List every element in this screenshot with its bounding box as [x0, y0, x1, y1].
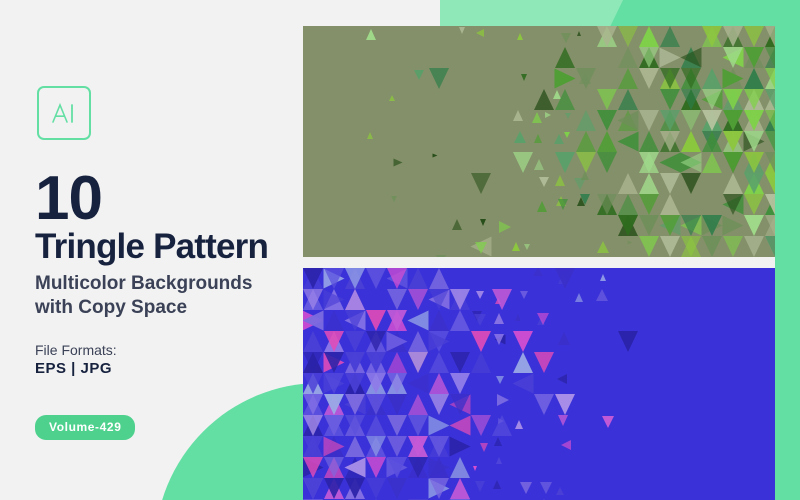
pattern-triangle: [391, 196, 397, 202]
pattern-triangle: [366, 457, 386, 478]
pattern-triangle: [408, 415, 428, 436]
pattern-triangle: [324, 373, 344, 394]
pattern-triangle: [580, 194, 590, 205]
pattern-triangle: [366, 415, 386, 436]
pattern-triangle: [555, 69, 576, 89]
pattern-triangle: [303, 268, 323, 289]
pattern-triangle: [459, 27, 465, 34]
pattern-triangle: [556, 487, 564, 495]
pattern-triangle: [366, 268, 386, 289]
pattern-triangle: [537, 201, 547, 212]
pattern-triangle: [744, 236, 764, 257]
pattern-triangle: [558, 415, 568, 426]
pattern-triangle: [389, 95, 395, 101]
pattern-triangle: [324, 290, 345, 310]
pattern-triangle: [324, 478, 344, 499]
pattern-triangle: [744, 173, 764, 194]
pattern-triangle: [639, 236, 659, 257]
pattern-triangle: [660, 89, 680, 110]
pattern-triangle: [723, 173, 743, 194]
pattern-triangle: [450, 310, 470, 331]
pattern-triangle: [303, 311, 324, 331]
pattern-triangle: [702, 215, 722, 236]
pattern-triangle: [513, 352, 533, 373]
pattern-triangle: [765, 68, 775, 89]
pattern-triangle: [324, 331, 344, 352]
pattern-triangle: [555, 268, 575, 289]
pattern-triangle: [515, 314, 521, 321]
pattern-triangle: [345, 478, 365, 499]
pattern-triangle: [576, 110, 596, 131]
pattern-triangle: [513, 331, 533, 352]
pattern-triangle: [429, 436, 449, 457]
pattern-triangle: [513, 152, 533, 173]
pattern-triangle: [450, 352, 470, 373]
pattern-triangle: [639, 173, 659, 194]
pattern-triangle: [723, 69, 744, 89]
pattern-triangle: [681, 236, 701, 257]
pattern-triangle: [618, 111, 639, 131]
page-title: Tringle Pattern: [35, 228, 268, 266]
pattern-triangle: [450, 416, 471, 436]
pattern-triangle: [474, 314, 486, 326]
pattern-triangle: [555, 89, 575, 110]
pattern-triangle: [765, 215, 775, 236]
pattern-triangle: [408, 374, 429, 394]
pattern-triangle: [660, 48, 681, 68]
pattern-triangle: [473, 466, 477, 471]
pattern-triangle: [702, 131, 722, 152]
pattern-triangle: [765, 236, 775, 257]
pattern-triangle: [555, 152, 575, 173]
pattern-triangle: [681, 89, 701, 110]
pattern-triangle: [471, 173, 491, 194]
pattern-triangle: [394, 159, 403, 167]
pattern-triangle: [532, 112, 542, 123]
pattern-triangle: [408, 268, 428, 289]
pattern-triangle: [345, 373, 365, 394]
pattern-triangle: [408, 457, 428, 478]
pattern-triangle: [565, 113, 571, 119]
pattern-triangle: [765, 110, 775, 131]
pattern-triangle: [450, 478, 470, 499]
volume-badge: Volume-429: [35, 415, 135, 440]
pattern-triangle: [660, 26, 680, 47]
pattern-triangle: [387, 436, 407, 457]
pattern-triangle: [366, 352, 386, 373]
pattern-triangle: [429, 352, 449, 373]
pattern-triangle: [492, 289, 512, 310]
pattern-triangle: [534, 134, 542, 143]
pattern-triangle: [303, 436, 323, 457]
pattern-triangle: [660, 68, 680, 89]
pattern-triangle: [345, 352, 365, 373]
pattern-triangle: [575, 293, 583, 302]
pattern-triangle: [436, 255, 446, 257]
pattern-triangle: [534, 159, 544, 170]
pattern-triangle: [520, 291, 528, 299]
poster-canvas: 10 Tringle Pattern Multicolor Background…: [0, 0, 800, 500]
page-subtitle: Multicolor Backgrounds with Copy Space: [35, 272, 252, 320]
pattern-triangle: [555, 47, 575, 68]
pattern-triangle: [618, 173, 638, 194]
pattern-triangle: [744, 215, 764, 236]
pattern-triangle: [499, 221, 511, 233]
pattern-triangle: [303, 331, 323, 352]
pattern-triangle: [618, 132, 639, 152]
pattern-triangle: [600, 274, 606, 281]
pattern-triangle: [521, 74, 527, 81]
pattern-triangle: [429, 478, 449, 499]
pattern-triangle: [366, 436, 386, 457]
pattern-triangle: [723, 194, 743, 215]
pattern-triangle: [618, 215, 638, 236]
pattern-triangle: [475, 481, 485, 492]
pattern-triangle: [639, 152, 659, 173]
pattern-triangle: [639, 47, 659, 68]
pattern-triangle: [408, 352, 428, 373]
pattern-triangle: [639, 68, 659, 89]
decorative-green-shape-right-strip: [775, 0, 800, 500]
pattern-triangle: [660, 153, 681, 173]
pattern-triangle: [475, 242, 487, 254]
pattern-triangle: [639, 194, 659, 215]
pattern-triangle: [324, 457, 344, 478]
pattern-triangle: [303, 373, 323, 394]
pattern-triangle: [345, 331, 365, 352]
pattern-triangle: [539, 177, 549, 187]
pattern-triangle: [660, 194, 680, 215]
pattern-triangle: [517, 33, 523, 40]
pattern-triangle: [765, 89, 775, 110]
pattern-triangle: [639, 110, 659, 131]
pattern-triangle: [429, 373, 449, 394]
pack-count: 10: [35, 168, 102, 230]
pattern-triangle: [618, 26, 638, 47]
pattern-triangle: [639, 26, 659, 47]
file-formats-value: EPS | JPG: [35, 360, 112, 377]
pattern-triangle: [681, 131, 701, 152]
pattern-triangle: [723, 216, 744, 236]
pattern-triangle: [744, 110, 764, 131]
pattern-triangle: [429, 458, 450, 478]
pattern-triangle: [681, 173, 701, 194]
pattern-triangle: [345, 310, 365, 331]
pattern-triangle: [450, 457, 470, 478]
pattern-triangle: [723, 26, 743, 47]
pattern-triangle: [581, 171, 589, 180]
pattern-triangle: [429, 68, 449, 89]
pattern-triangle: [303, 478, 323, 499]
pattern-triangle: [324, 415, 344, 436]
pattern-triangle: [681, 68, 701, 89]
pattern-triangle: [597, 131, 617, 152]
pattern-triangle: [387, 332, 408, 352]
pattern-triangle: [681, 48, 702, 68]
pattern-triangle: [387, 310, 407, 331]
pattern-triangle: [561, 440, 571, 450]
pattern-triangle: [765, 26, 775, 47]
pattern-triangle: [429, 332, 450, 352]
pattern-triangle: [387, 268, 407, 289]
pattern-triangle: [303, 394, 323, 415]
pattern-triangle: [513, 374, 534, 394]
pattern-triangle: [555, 175, 565, 186]
pattern-triangle: [765, 131, 775, 152]
pattern-triangle: [639, 131, 659, 152]
pattern-triangle: [618, 68, 638, 89]
pattern-triangle: [387, 394, 407, 415]
pattern-triangle: [387, 373, 407, 394]
pattern-triangle: [723, 236, 743, 257]
pattern-triangle: [512, 242, 520, 251]
pattern-triangle: [345, 415, 365, 436]
pattern-triangle: [744, 194, 764, 215]
pattern-triangle: [493, 480, 501, 489]
pattern-triangle: [345, 268, 365, 289]
pattern-triangle: [429, 394, 449, 415]
pattern-triangle: [303, 457, 323, 478]
green-triangle-pattern-panel: [303, 26, 775, 257]
pattern-triangle: [660, 173, 680, 194]
pattern-triangle: [366, 373, 386, 394]
pattern-triangle: [744, 89, 764, 110]
pattern-triangle: [324, 310, 344, 331]
pattern-triangle: [597, 89, 617, 110]
pattern-triangle: [576, 152, 596, 173]
pattern-triangle: [744, 47, 764, 68]
pattern-triangle: [744, 26, 764, 47]
pattern-triangle: [480, 443, 488, 452]
pattern-triangle: [429, 416, 450, 436]
pattern-triangle: [414, 70, 424, 80]
pattern-triangle: [618, 47, 638, 68]
pattern-triangle: [618, 194, 638, 215]
pattern-triangle: [429, 310, 449, 331]
pattern-triangle: [681, 110, 701, 131]
pattern-triangle: [765, 47, 775, 68]
pattern-triangle: [366, 394, 386, 415]
pattern-triangle: [496, 457, 502, 464]
pattern-triangle: [471, 352, 491, 373]
pattern-triangle: [533, 268, 543, 276]
pattern-triangle: [476, 29, 484, 37]
pattern-triangle: [702, 152, 722, 173]
pattern-triangle: [494, 334, 504, 345]
pattern-triangle: [480, 219, 486, 226]
pattern-triangle: [514, 131, 526, 143]
pattern-triangle: [660, 236, 680, 257]
pattern-triangle: [450, 437, 471, 457]
pattern-triangle: [723, 131, 743, 152]
pattern-triangle: [450, 394, 470, 415]
pattern-triangle: [408, 311, 429, 331]
pattern-triangle: [471, 415, 491, 436]
pattern-triangle: [498, 418, 504, 424]
pattern-triangle: [545, 112, 551, 118]
pattern-triangle: [627, 240, 632, 244]
pattern-triangle: [452, 219, 462, 230]
pattern-triangle: [408, 394, 428, 415]
pattern-triangle: [597, 152, 617, 173]
pattern-triangle: [429, 268, 449, 289]
pattern-triangle: [765, 194, 775, 215]
pattern-triangle: [558, 332, 570, 345]
pattern-triangle: [744, 68, 764, 89]
pattern-triangle: [765, 152, 775, 173]
pattern-triangle: [520, 482, 532, 494]
pattern-triangle: [324, 268, 344, 289]
pattern-triangle: [555, 394, 575, 415]
pattern-triangle: [681, 215, 701, 236]
pattern-triangle: [534, 352, 554, 373]
pattern-triangle: [471, 331, 491, 352]
pattern-triangle: [744, 152, 764, 173]
pattern-triangle: [702, 89, 722, 110]
pattern-triangle: [702, 68, 722, 89]
pattern-triangle: [515, 420, 523, 429]
pattern-triangle: [387, 415, 407, 436]
pattern-triangle: [496, 376, 504, 384]
pattern-triangle: [303, 289, 323, 310]
pattern-triangle: [303, 352, 323, 373]
pattern-triangle: [576, 68, 596, 89]
pattern-triangle: [558, 199, 568, 210]
pattern-triangle: [540, 482, 552, 494]
pattern-triangle: [494, 313, 504, 324]
pattern-triangle: [602, 416, 614, 428]
pattern-triangle: [366, 310, 386, 331]
pattern-triangle: [702, 236, 722, 257]
pattern-triangle: [324, 352, 344, 373]
pattern-triangle: [345, 289, 365, 310]
pattern-triangle: [557, 374, 567, 384]
pattern-triangle: [345, 394, 365, 415]
pattern-triangle: [367, 132, 373, 139]
pattern-triangle: [723, 47, 743, 68]
pattern-triangle: [450, 373, 470, 394]
pattern-triangle: [660, 110, 680, 131]
pattern-triangle: [387, 352, 407, 373]
pattern-triangle: [345, 458, 366, 478]
pattern-triangle: [387, 457, 407, 478]
pattern-triangle: [534, 394, 554, 415]
pattern-triangle: [618, 89, 638, 110]
pattern-triangle: [597, 241, 609, 253]
pattern-triangle: [723, 89, 743, 110]
pattern-triangle: [660, 131, 680, 152]
pattern-triangle: [723, 152, 743, 173]
pattern-triangle: [494, 437, 502, 446]
pattern-triangle: [576, 131, 596, 152]
pattern-triangle: [744, 131, 764, 152]
pattern-triangle: [534, 89, 554, 110]
pattern-triangle: [639, 215, 659, 236]
pattern-triangle: [597, 26, 617, 47]
pattern-triangle: [366, 478, 386, 499]
pattern-triangle: [660, 215, 680, 236]
pattern-triangle: [497, 394, 509, 406]
pattern-triangle: [524, 244, 530, 250]
pattern-triangle: [597, 194, 617, 215]
pattern-triangle: [387, 478, 407, 499]
decorative-green-shape-top-band: [440, 0, 800, 26]
blue-triangle-pattern-panel: [303, 268, 775, 500]
pattern-triangle: [723, 110, 743, 131]
pattern-triangle: [596, 289, 608, 301]
pattern-triangle: [681, 153, 702, 173]
pattern-triangle: [387, 289, 407, 310]
file-formats-label: File Formats:: [35, 342, 117, 358]
pattern-triangle: [618, 331, 638, 352]
pattern-triangle: [429, 289, 449, 310]
pattern-triangle: [476, 291, 484, 299]
pattern-triangle: [324, 437, 345, 457]
pattern-triangle: [366, 29, 376, 40]
pattern-triangle: [324, 394, 344, 415]
ai-format-icon: [37, 86, 91, 140]
pattern-triangle: [702, 26, 722, 47]
pattern-triangle: [702, 110, 722, 131]
pattern-triangle: [432, 154, 437, 158]
pattern-triangle: [765, 173, 775, 194]
pattern-triangle: [408, 436, 428, 457]
pattern-triangle: [408, 331, 428, 352]
pattern-triangle: [345, 436, 365, 457]
pattern-triangle: [597, 110, 617, 131]
pattern-triangle: [303, 415, 323, 436]
pattern-triangle: [366, 331, 386, 352]
pattern-triangle: [513, 110, 523, 121]
pattern-triangle: [577, 31, 581, 36]
pattern-triangle: [537, 313, 549, 325]
pattern-triangle: [564, 132, 570, 138]
pattern-triangle: [450, 289, 470, 310]
pattern-triangle: [561, 33, 571, 43]
pattern-triangle: [408, 289, 428, 310]
